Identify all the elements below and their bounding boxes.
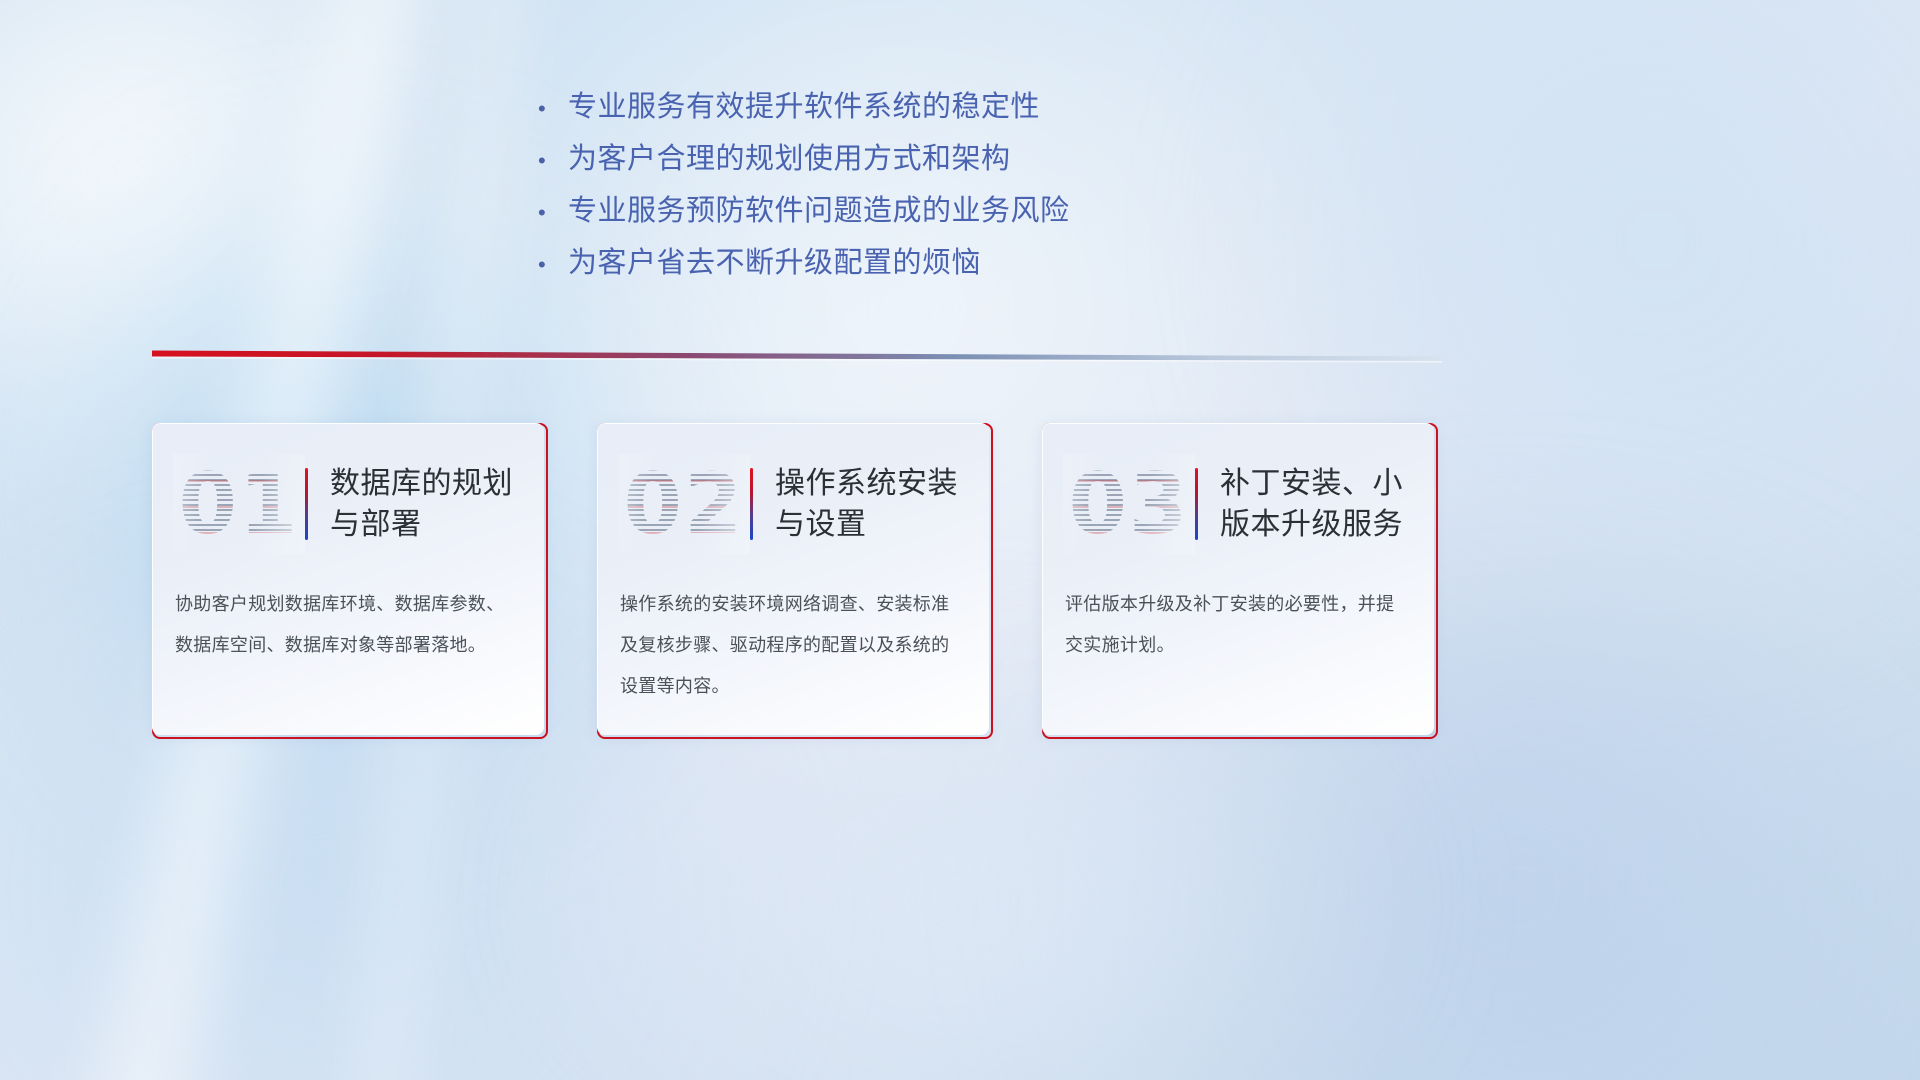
card-number-tint: 01 [173, 454, 305, 554]
card-surface: 03 03 补丁安装、小版本升级服务 评估版本升级及补丁安装的必要性，并提交实施… [1042, 423, 1434, 735]
service-card[interactable]: 01 01 数据库的规划与部署 协助客户规划数据库环境、数据库参数、数据库空间、… [152, 423, 548, 739]
card-title: 补丁安装、小版本升级服务 [1220, 463, 1434, 545]
card-title-divider [305, 468, 308, 540]
bullet-label: 为客户省去不断升级配置的烦恼 [568, 246, 981, 280]
list-item: • 专业服务有效提升软件系统的稳定性 [538, 90, 1298, 142]
bullet-dot-icon: • [538, 92, 568, 126]
bullet-dot-icon: • [538, 144, 568, 178]
card-header: 01 01 数据库的规划与部署 [153, 446, 544, 562]
bullet-dot-icon: • [538, 196, 568, 230]
list-item: • 为客户合理的规划使用方式和架构 [538, 142, 1298, 194]
benefits-bullet-list: • 专业服务有效提升软件系统的稳定性 • 为客户合理的规划使用方式和架构 • 专… [538, 90, 1298, 298]
card-number-tint: 03 [1063, 454, 1195, 554]
card-title: 数据库的规划与部署 [330, 463, 544, 545]
card-description: 协助客户规划数据库环境、数据库参数、数据库空间、数据库对象等部署落地。 [175, 584, 522, 666]
card-title-divider [750, 468, 753, 540]
card-number-decoration: 02 02 [618, 454, 750, 554]
service-card-row: 01 01 数据库的规划与部署 协助客户规划数据库环境、数据库参数、数据库空间、… [152, 423, 1772, 739]
card-number-decoration: 03 03 [1063, 454, 1195, 554]
card-title-divider [1195, 468, 1198, 540]
list-item: • 专业服务预防软件问题造成的业务风险 [538, 194, 1298, 246]
list-item: • 为客户省去不断升级配置的烦恼 [538, 246, 1298, 298]
bullet-dot-icon: • [538, 248, 568, 282]
card-surface: 01 01 数据库的规划与部署 协助客户规划数据库环境、数据库参数、数据库空间、… [152, 423, 544, 735]
service-card[interactable]: 03 03 补丁安装、小版本升级服务 评估版本升级及补丁安装的必要性，并提交实施… [1042, 423, 1438, 739]
card-number-tint: 02 [618, 454, 750, 554]
card-number-decoration: 01 01 [173, 454, 305, 554]
card-header: 03 03 补丁安装、小版本升级服务 [1043, 446, 1434, 562]
card-description: 操作系统的安装环境网络调查、安装标准及复核步骤、驱动程序的配置以及系统的设置等内… [620, 584, 967, 707]
section-divider [152, 349, 1442, 365]
service-card[interactable]: 02 02 操作系统安装与设置 操作系统的安装环境网络调查、安装标准及复核步骤、… [597, 423, 993, 739]
card-header: 02 02 操作系统安装与设置 [598, 446, 989, 562]
card-description: 评估版本升级及补丁安装的必要性，并提交实施计划。 [1065, 584, 1412, 666]
bullet-label: 专业服务有效提升软件系统的稳定性 [568, 90, 1040, 124]
bullet-label: 为客户合理的规划使用方式和架构 [568, 142, 1011, 176]
card-title: 操作系统安装与设置 [775, 463, 989, 545]
card-surface: 02 02 操作系统安装与设置 操作系统的安装环境网络调查、安装标准及复核步骤、… [597, 423, 989, 735]
divider-shape-icon [152, 349, 1442, 365]
bullet-label: 专业服务预防软件问题造成的业务风险 [568, 194, 1070, 228]
